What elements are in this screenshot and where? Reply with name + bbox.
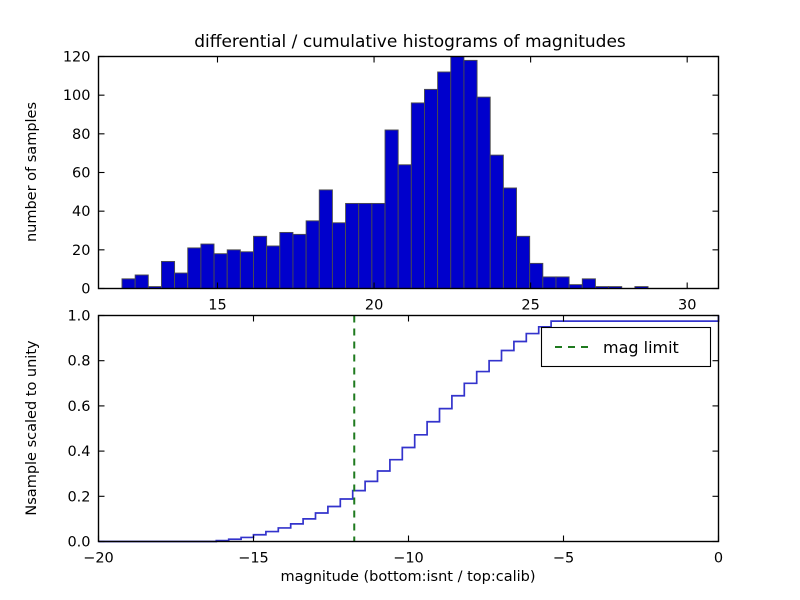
- top-ytick-label: 120: [63, 50, 91, 66]
- histogram-bar: [240, 252, 253, 289]
- top-ytick-label: 80: [72, 127, 90, 143]
- bottom-panel-xlabel: magnitude (bottom:isnt / top:calib): [280, 569, 535, 585]
- histogram-bar: [438, 72, 451, 289]
- histogram-bar: [214, 254, 227, 289]
- histogram-bar: [464, 60, 477, 288]
- top-ytick-label: 60: [72, 166, 90, 182]
- histogram-bar: [582, 279, 595, 289]
- histogram-bar: [490, 155, 503, 288]
- histogram-bar: [175, 273, 188, 288]
- histogram-bar: [201, 244, 214, 288]
- histogram-bar: [517, 236, 530, 288]
- bottom-ytick-label: 0.8: [67, 354, 90, 370]
- histogram-bar: [359, 203, 372, 288]
- histogram-bar: [543, 277, 556, 289]
- chart-title: differential / cumulative histograms of …: [194, 32, 626, 52]
- legend[interactable]: mag limit: [542, 328, 711, 367]
- histogram-bar: [346, 203, 359, 288]
- histogram-bar: [135, 275, 148, 289]
- histogram-bar: [122, 279, 135, 289]
- histogram-bar: [306, 221, 319, 289]
- bottom-ytick-label: 0.4: [67, 444, 90, 460]
- top-xtick-label: 30: [678, 298, 696, 314]
- bottom-xtick-label: −15: [238, 551, 269, 567]
- histogram-bar: [267, 246, 280, 289]
- histogram-bar: [503, 188, 516, 289]
- bottom-ytick-label: 0.6: [67, 399, 90, 415]
- histogram-bar: [188, 248, 201, 289]
- histogram-bar: [161, 261, 174, 288]
- histogram-bar: [254, 236, 267, 288]
- histogram-bar: [556, 277, 569, 289]
- histogram-bar: [385, 130, 398, 289]
- top-xtick-label: 25: [521, 298, 539, 314]
- bottom-xtick-label: −20: [83, 551, 114, 567]
- histogram-bar: [477, 97, 490, 288]
- histogram-bar: [530, 263, 543, 288]
- histogram-bar: [398, 165, 411, 289]
- figure-canvas: differential / cumulative histograms of …: [0, 0, 800, 600]
- histogram-bar: [227, 250, 240, 289]
- histogram-bar: [280, 232, 293, 288]
- histogram-bar: [372, 203, 385, 288]
- top-ytick-label: 0: [81, 282, 90, 298]
- histogram-bar: [424, 89, 437, 288]
- top-xtick-label: 15: [208, 298, 226, 314]
- top-ytick-label: 100: [63, 88, 91, 104]
- legend-label-mag-limit: mag limit: [603, 338, 679, 357]
- bottom-panel-ylabel: Nsample scaled to unity: [24, 340, 40, 516]
- histogram-bar: [319, 190, 332, 289]
- bottom-ytick-label: 1.0: [67, 309, 90, 325]
- histogram-bar: [411, 103, 424, 289]
- bottom-xtick-label: −10: [393, 551, 424, 567]
- histogram-bar: [293, 234, 306, 288]
- bottom-ytick-label: 0.2: [67, 489, 90, 505]
- bottom-xtick-label: 0: [714, 551, 723, 567]
- top-xtick-label: 20: [365, 298, 383, 314]
- bottom-ytick-label: 0.0: [67, 535, 90, 551]
- top-ytick-label: 20: [72, 243, 90, 259]
- histogram-bar: [332, 223, 345, 289]
- top-panel-ylabel: number of samples: [24, 102, 40, 242]
- histogram-bar: [451, 57, 464, 289]
- top-ytick-label: 40: [72, 204, 90, 220]
- bottom-xtick-label: −5: [553, 551, 574, 567]
